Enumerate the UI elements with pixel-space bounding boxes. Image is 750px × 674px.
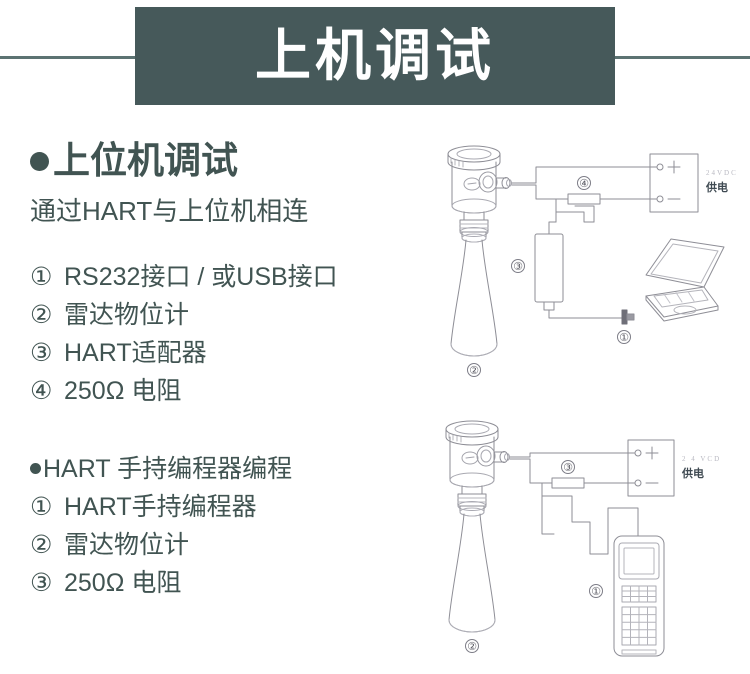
list-item: ① RS232接口 / 或USB接口	[30, 258, 430, 296]
list-item-label: 雷达物位计	[64, 296, 189, 334]
diagram-handheld-programmer-wiring: 2 4 VCD 供电 ② ① ③	[432, 404, 744, 666]
hart-adapter-icon	[535, 222, 622, 318]
radar-level-meter-icon	[448, 146, 512, 356]
callout-handheld: ①	[591, 586, 601, 598]
list-item-label: HART手持编程器	[64, 488, 257, 526]
bullet-dot-icon	[30, 463, 41, 474]
list-item-label: 雷达物位计	[64, 526, 189, 564]
list-item-number: ③	[30, 334, 64, 372]
radar-level-meter-icon	[446, 421, 510, 632]
list-item-label: RS232接口 / 或USB接口	[64, 258, 338, 296]
list-item: ① HART手持编程器	[30, 488, 430, 526]
list-item-label: 250Ω 电阻	[64, 564, 181, 602]
list-item-number: ①	[30, 488, 64, 526]
power-supply-box	[650, 154, 698, 212]
laptop-icon	[646, 239, 724, 321]
bullet-dot-icon	[30, 152, 49, 171]
diagram-host-computer-wiring: 24VDC 供电 ② ③ ① ④	[432, 134, 744, 386]
section2-title: HART 手持编程器编程	[30, 450, 430, 488]
power-label-voltage: 24VDC	[706, 169, 738, 177]
list-item: ② 雷达物位计	[30, 296, 430, 334]
callout-radar: ②	[469, 365, 479, 377]
header-rule-left	[0, 56, 140, 59]
power-label-supply: 供电	[681, 466, 704, 480]
page-title: 上机调试	[255, 28, 495, 84]
section2: HART 手持编程器编程 ① HART手持编程器 ② 雷达物位计 ③ 250Ω …	[30, 450, 430, 602]
callout-connector: ①	[619, 332, 629, 344]
list-item-number: ③	[30, 564, 64, 602]
callout-adapter: ③	[513, 261, 523, 273]
header-banner: 上机调试	[135, 7, 615, 105]
list-item-number: ②	[30, 526, 64, 564]
list-item: ③ HART适配器	[30, 334, 430, 372]
power-label-supply: 供电	[705, 180, 728, 194]
list-item: ④ 250Ω 电阻	[30, 372, 430, 410]
wiring-loop	[512, 167, 657, 222]
list-item-label: 250Ω 电阻	[64, 372, 181, 410]
list-item: ② 雷达物位计	[30, 526, 430, 564]
list-item-number: ④	[30, 372, 64, 410]
list-item-label: HART适配器	[64, 334, 207, 372]
header-rule-right	[612, 56, 750, 59]
list-item: ③ 250Ω 电阻	[30, 564, 430, 602]
hart-handheld-programmer-icon	[614, 536, 664, 656]
section2-title-text: HART 手持编程器编程	[43, 450, 292, 488]
power-label-voltage: 2 4 VCD	[682, 455, 721, 463]
power-supply-box	[628, 440, 674, 496]
section1-list: ① RS232接口 / 或USB接口 ② 雷达物位计 ③ HART适配器 ④ 2…	[30, 258, 430, 410]
list-item-number: ②	[30, 296, 64, 334]
section2-list: ① HART手持编程器 ② 雷达物位计 ③ 250Ω 电阻	[30, 488, 430, 602]
usb-connector-icon	[622, 310, 634, 324]
list-item-number: ①	[30, 258, 64, 296]
section1-subtitle: 通过HART与上位机相连	[30, 191, 430, 228]
left-text-column: 上位机调试 通过HART与上位机相连 ① RS232接口 / 或USB接口 ② …	[30, 140, 430, 602]
section1-title: 上位机调试	[30, 140, 430, 183]
callout-radar: ②	[467, 641, 477, 653]
section1-title-text: 上位机调试	[53, 140, 238, 183]
page-header: 上机调试	[0, 0, 750, 112]
